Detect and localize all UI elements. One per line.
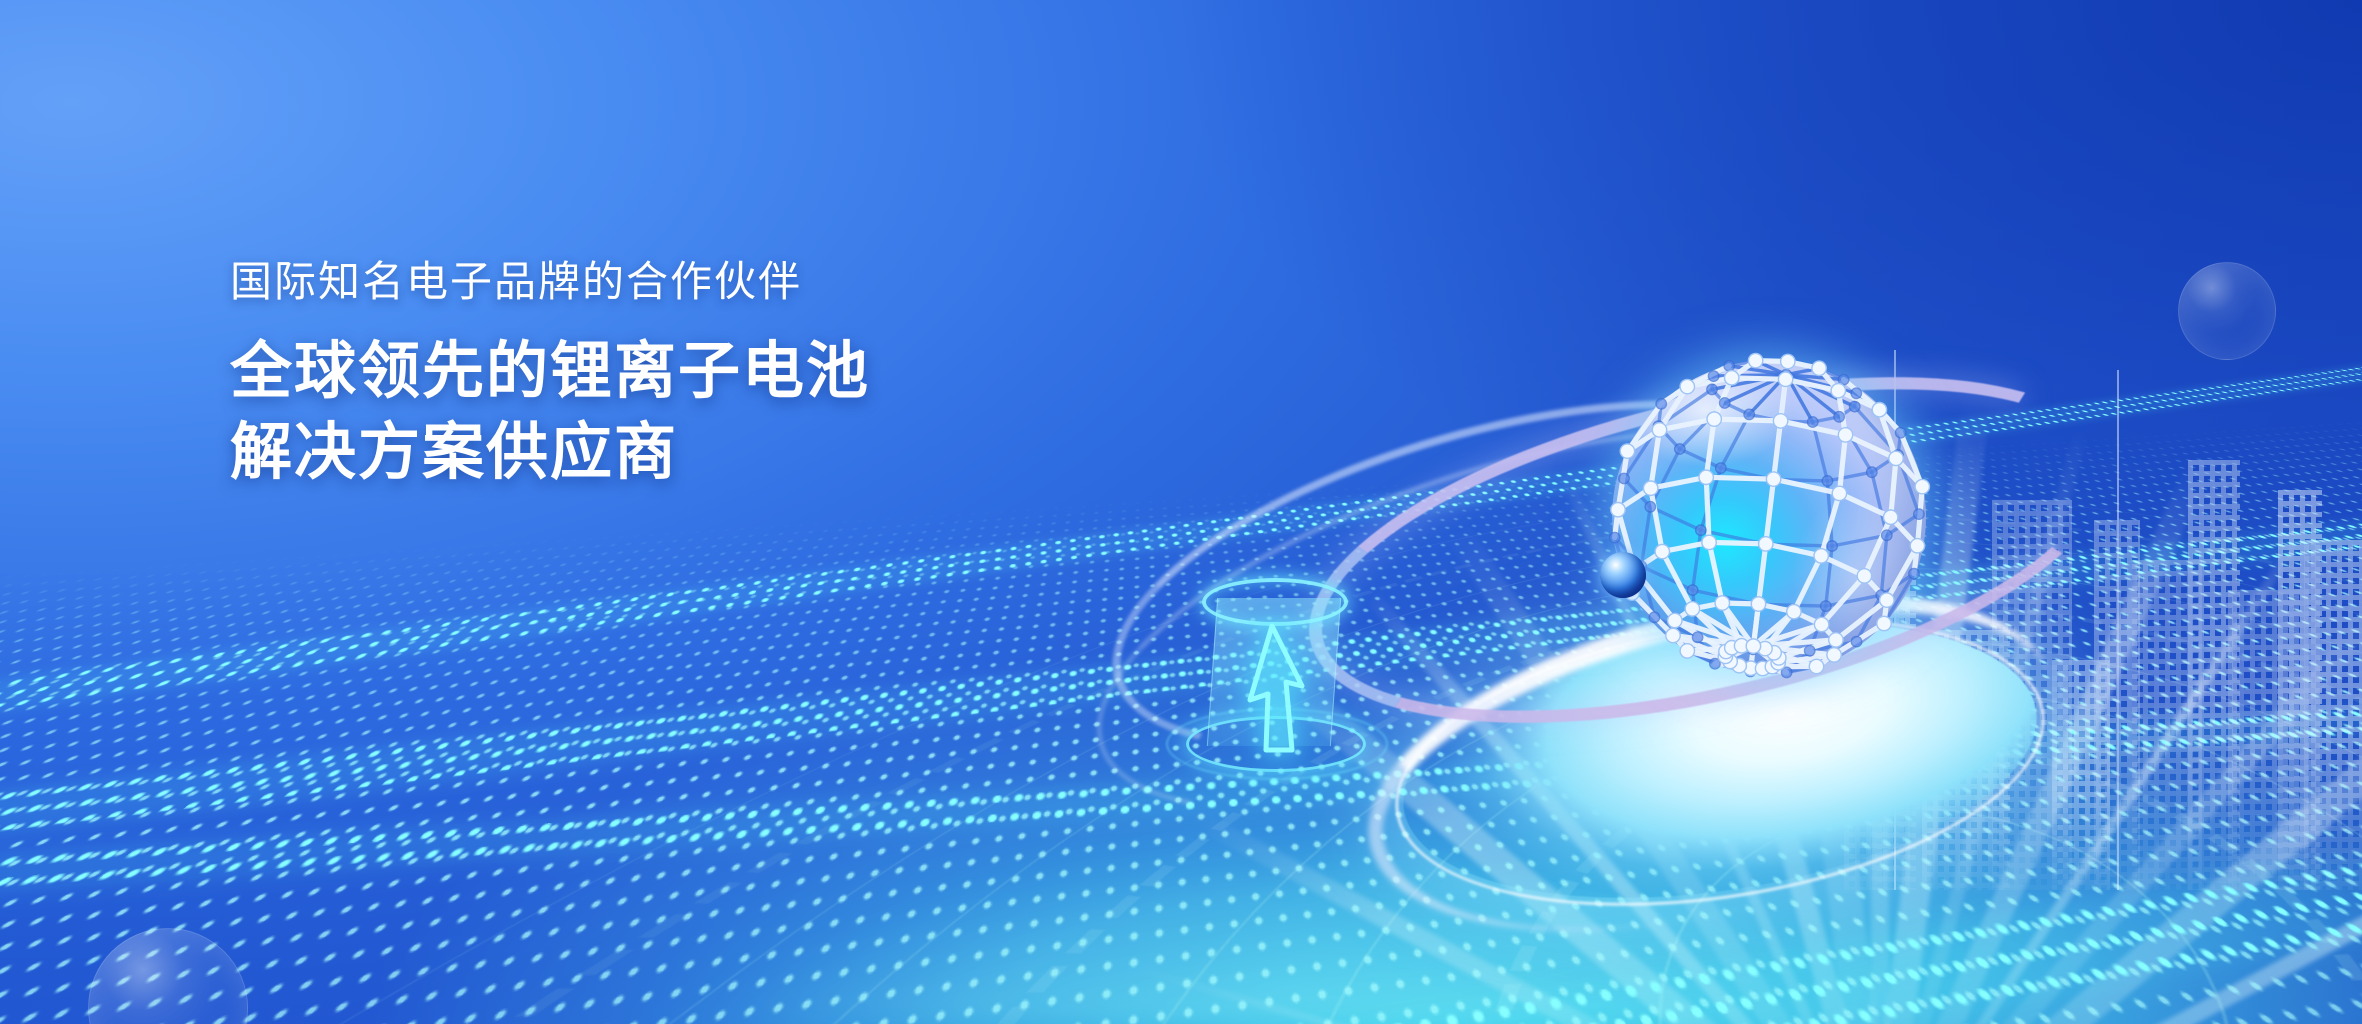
hero-banner: 国际知名电子品牌的合作伙伴 全球领先的锂离子电池 解决方案供应商 <box>0 0 2362 1024</box>
wireframe-globe-icon <box>1604 352 1934 682</box>
hero-copy: 国际知名电子品牌的合作伙伴 全球领先的锂离子电池 解决方案供应商 <box>230 256 1050 494</box>
page-title: 全球领先的锂离子电池 解决方案供应商 <box>230 331 1050 495</box>
headline-line-1: 全球领先的锂离子电池 <box>230 331 1050 413</box>
building-spire <box>2117 370 2119 890</box>
glass-bubble-icon <box>2178 262 2276 360</box>
orbit-node-sphere-icon <box>1600 552 1646 598</box>
city-building <box>2304 540 2362 890</box>
up-arrow-icon <box>1232 620 1318 760</box>
headline-line-2: 解决方案供应商 <box>230 412 1050 494</box>
eyebrow-text: 国际知名电子品牌的合作伙伴 <box>230 256 1050 309</box>
pillar-top-ring <box>1202 578 1348 626</box>
